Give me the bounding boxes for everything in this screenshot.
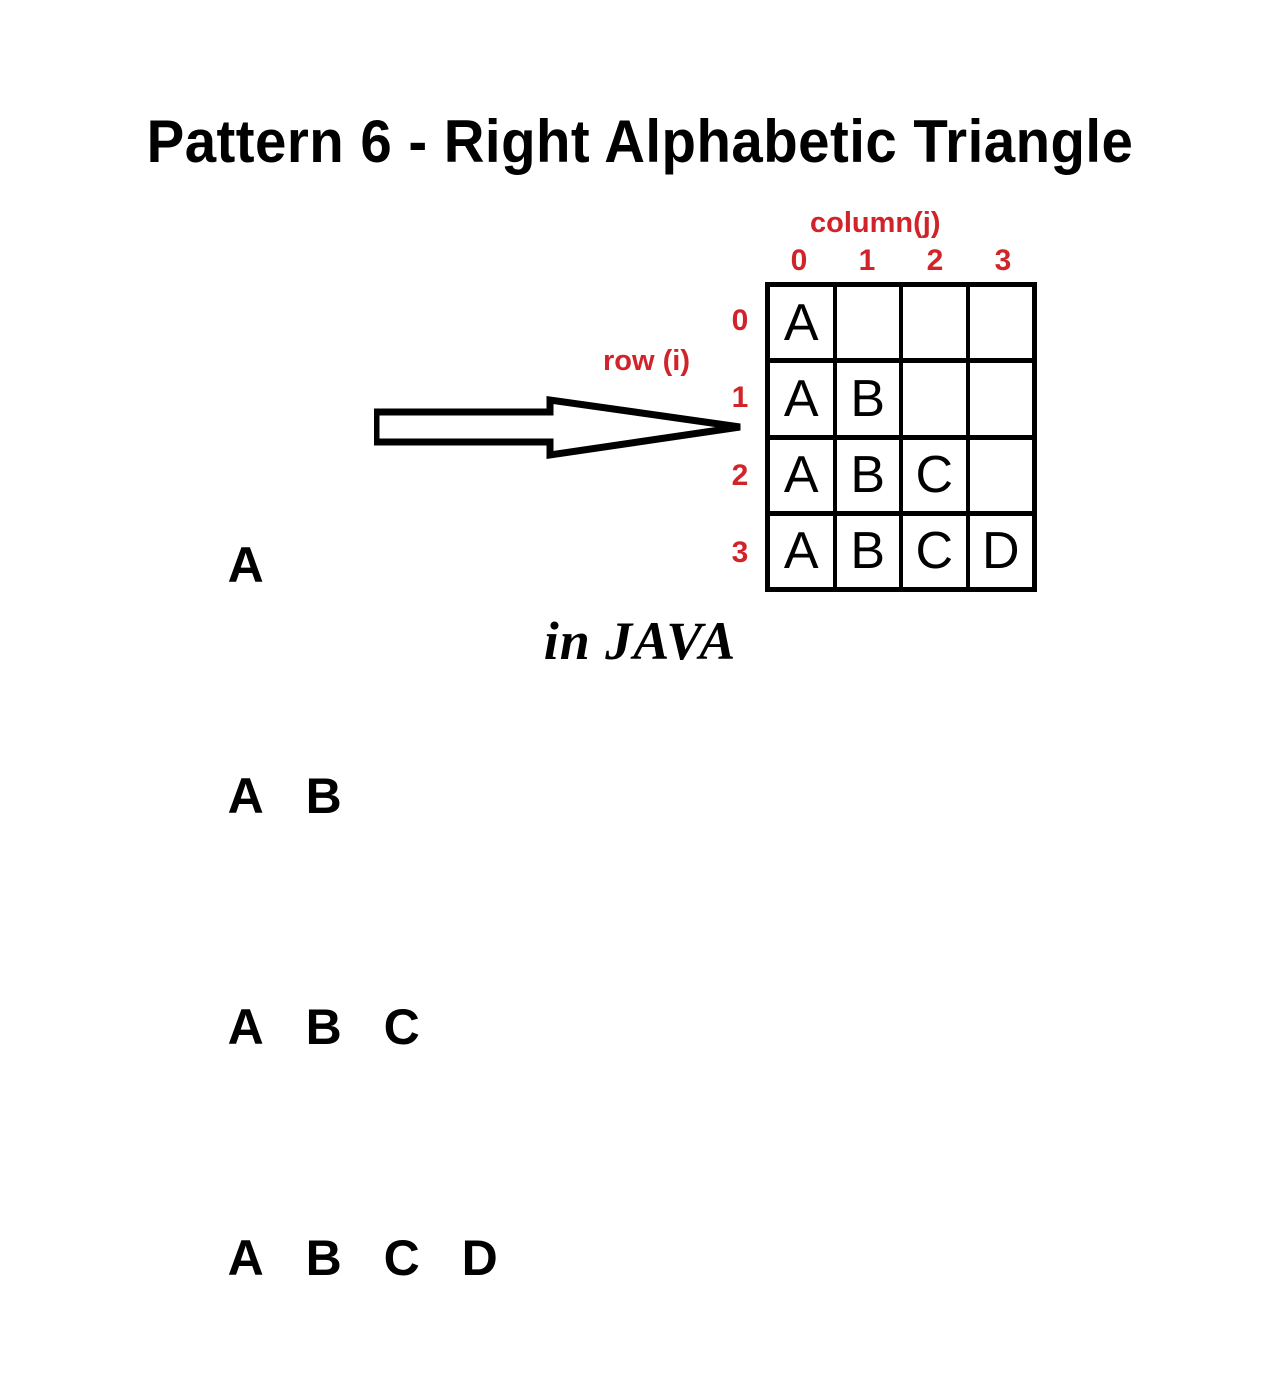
matrix-cell [970,440,1033,511]
matrix-cell: C [903,516,970,587]
pattern-letter: A [228,989,306,1066]
matrix-cell [970,363,1033,434]
column-index-3: 3 [969,244,1037,278]
matrix-cell: A [770,516,837,587]
pattern-letter: B [306,1220,384,1297]
row-index-3: 3 [723,515,757,593]
matrix-grid: A A B A B C A B C D [765,282,1037,592]
pattern-letter: C [384,1220,462,1297]
column-index-1: 1 [833,244,901,278]
pattern-text-row: ABCD [172,1143,540,1220]
language-caption: in JAVA [0,608,1280,674]
column-index-0: 0 [765,244,833,278]
page-title: Pattern 6 - Right Alphabetic Triangle [38,106,1241,178]
row-index-header: 0 1 2 3 [723,282,757,592]
pattern-letter: A [228,1220,306,1297]
pattern-letter: C [384,989,462,1066]
row-axis-label: row (i) [603,344,690,378]
matrix-cell: D [970,516,1033,587]
pattern-letter: B [306,758,384,835]
matrix-cell [970,287,1033,358]
matrix-cell: A [770,363,837,434]
matrix-cell: B [837,363,904,434]
matrix-cell [903,363,970,434]
matrix-cell [837,287,904,358]
matrix-cell [903,287,970,358]
matrix-cell: B [837,440,904,511]
column-axis-label: column(j) [810,206,941,240]
matrix-row: A B [770,363,1032,439]
matrix-row: A B C D [770,516,1032,587]
matrix-row: A B C [770,440,1032,516]
matrix-cell: C [903,440,970,511]
pattern-letter: A [228,527,306,604]
matrix-cell: A [770,440,837,511]
column-index-2: 2 [901,244,969,278]
pattern-letter: A [228,758,306,835]
pattern-text-row: ABC [172,912,540,989]
row-index-1: 1 [723,360,757,438]
row-index-2: 2 [723,437,757,515]
matrix-cell: A [770,287,837,358]
pattern-letter: D [462,1220,540,1297]
matrix-row: A [770,287,1032,363]
column-index-header: 0 1 2 3 [765,244,1037,278]
matrix-diagram: column(j) row (i) 0 1 2 3 0 1 2 3 A A B … [595,200,1055,600]
row-index-0: 0 [723,282,757,360]
pattern-letter: B [306,989,384,1066]
matrix-cell: B [837,516,904,587]
